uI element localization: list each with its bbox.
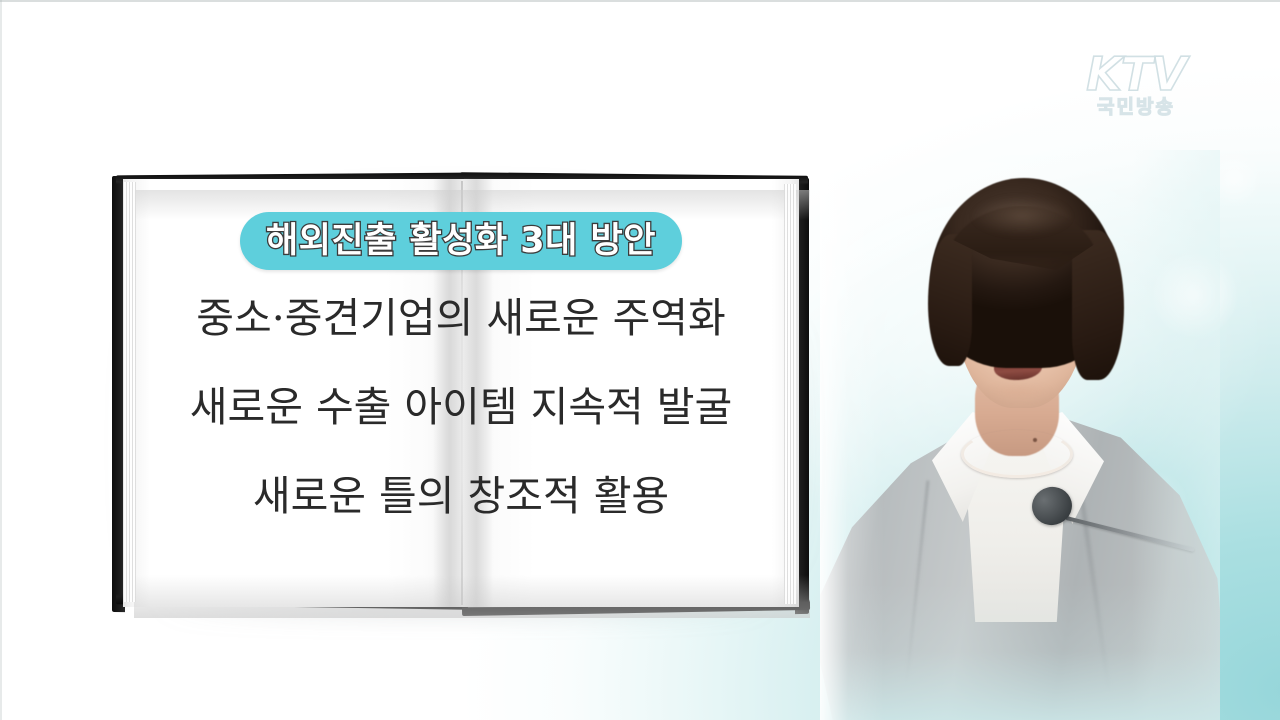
frame-left-edge (0, 0, 2, 720)
book-content: 해외진출 활성화 3대 방안 중소·중견기업의 새로운 주역화 새로운 수출 아… (123, 179, 799, 607)
hair-highlight (972, 196, 1072, 236)
headline-text: 해외진출 활성화 3대 방안 (266, 224, 656, 259)
pearl-necklace (961, 430, 1073, 478)
frame-top-edge (0, 0, 1280, 2)
broadcast-graphic-stage: 해외진출 활성화 3대 방안 중소·중견기업의 새로운 주역화 새로운 수출 아… (0, 0, 1280, 720)
chin (986, 382, 1052, 402)
bullet-list: 중소·중견기업의 새로운 주역화 새로운 수출 아이템 지속적 발굴 새로운 틀… (123, 288, 799, 517)
bullet-item: 새로운 틀의 창조적 활용 (253, 476, 669, 517)
bullet-item: 중소·중견기업의 새로운 주역화 (196, 298, 725, 339)
headline-banner: 해외진출 활성화 3대 방안 (240, 212, 682, 270)
mole (1033, 438, 1037, 442)
bullet-item: 새로운 수출 아이템 지속적 발굴 (190, 387, 733, 428)
open-book-graphic: 해외진출 활성화 3대 방안 중소·중견기업의 새로운 주역화 새로운 수출 아… (112, 168, 814, 616)
hair-side-left (928, 234, 972, 366)
speaker-portrait (820, 150, 1220, 720)
